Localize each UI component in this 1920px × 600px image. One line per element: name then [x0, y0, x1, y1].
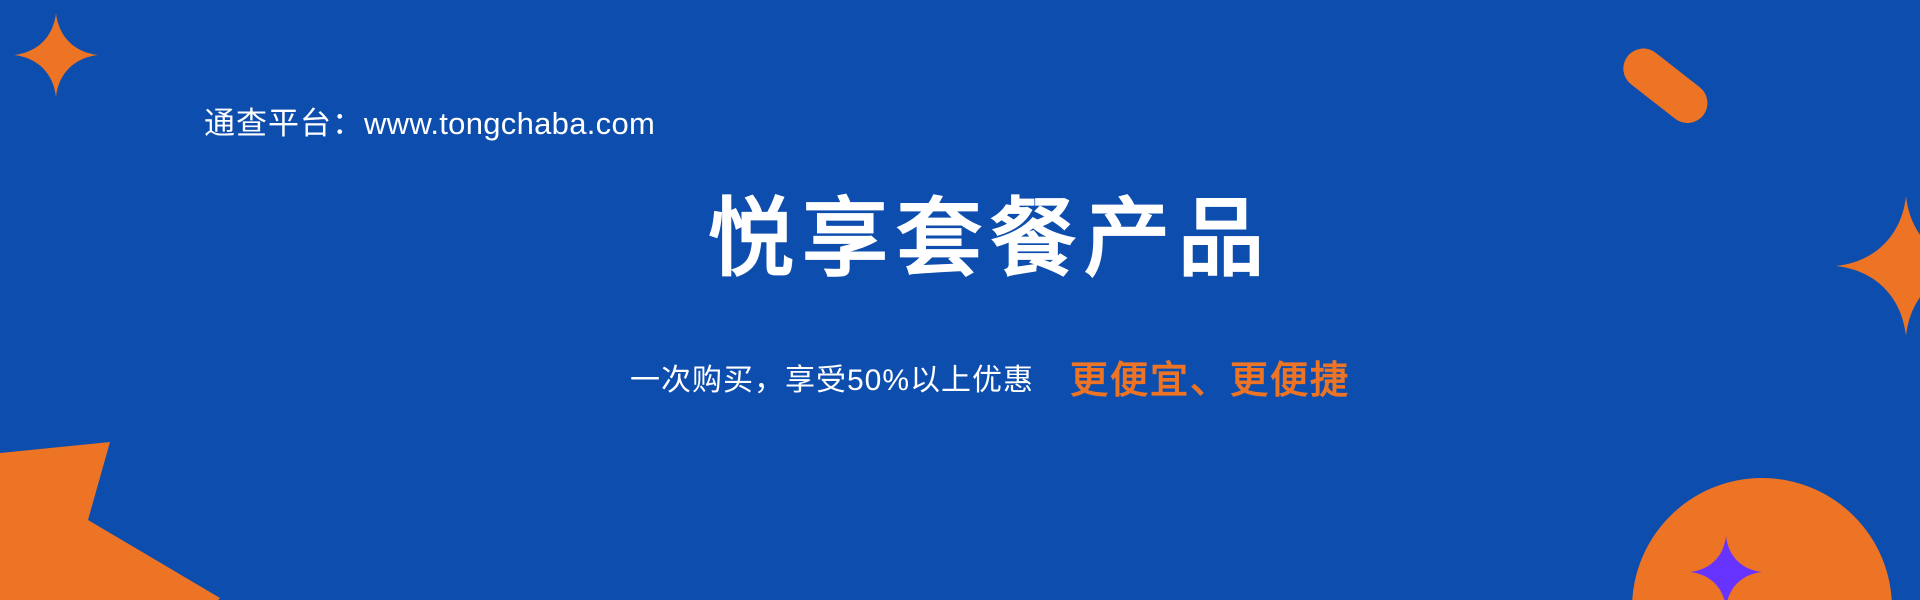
- platform-url[interactable]: www.tongchaba.com: [364, 106, 655, 141]
- page-title: 悦享套餐产品: [0, 196, 1920, 282]
- platform-label: 通查平台：: [204, 106, 364, 141]
- subtitle-accent-text: 更便宜、更便捷: [1070, 360, 1350, 402]
- subtitle-line: 一次购买，享受50%以上优惠更便宜、更便捷: [0, 362, 1920, 400]
- subtitle-plain-text: 一次购买，享受50%以上优惠: [630, 364, 1034, 397]
- promo-banner: 通查平台：www.tongchaba.com 悦享套餐产品 一次购买，享受50%…: [0, 0, 1920, 600]
- platform-url-line: 通查平台：www.tongchaba.com: [204, 108, 655, 139]
- content-layer: 通查平台：www.tongchaba.com 悦享套餐产品 一次购买，享受50%…: [0, 0, 1920, 600]
